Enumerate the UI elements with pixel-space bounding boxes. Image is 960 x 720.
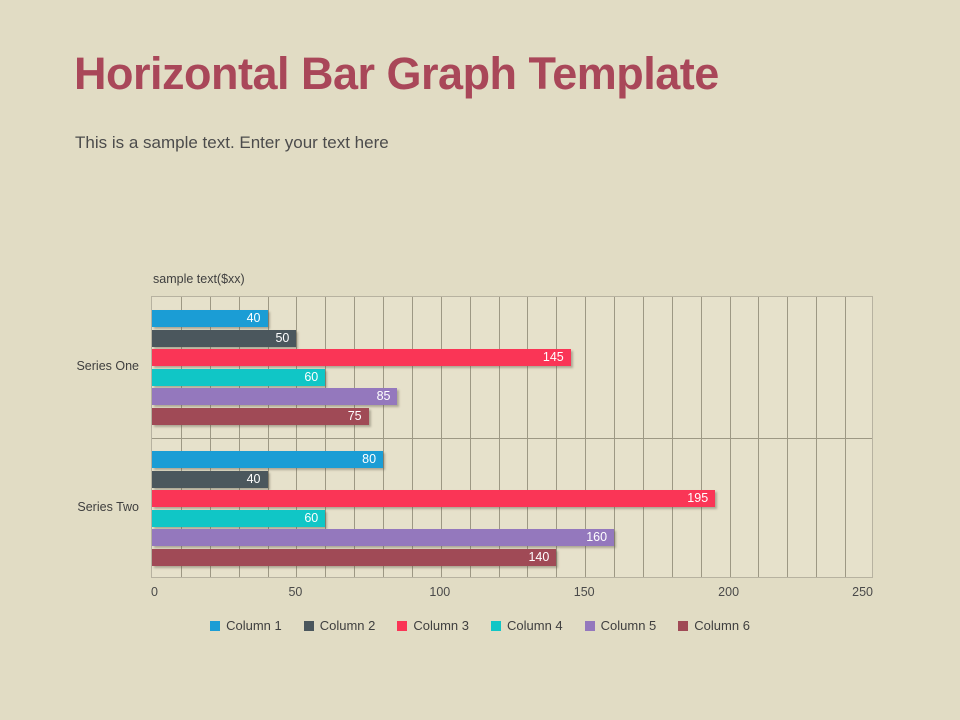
bar-value-label: 140 [152,549,556,566]
bar-value-label: 60 [152,510,325,527]
x-tick-label: 150 [574,585,595,599]
legend-swatch-icon [210,621,220,631]
bar-value-label: 40 [152,310,268,327]
chart-legend: Column 1Column 2Column 3Column 4Column 5… [0,618,960,633]
legend-label: Column 6 [694,618,750,633]
axis-title: sample text($xx) [153,272,245,286]
legend-swatch-icon [491,621,501,631]
category-divider [152,438,872,439]
legend-item[interactable]: Column 5 [585,618,657,633]
x-tick-label: 250 [852,585,873,599]
x-tick-label: 100 [429,585,450,599]
category-label: Series Two [39,500,139,514]
x-tick-label: 200 [718,585,739,599]
x-tick-label: 0 [151,585,158,599]
gridline [643,297,644,577]
bar-value-label: 160 [152,529,614,546]
gridline [614,297,615,577]
legend-item[interactable]: Column 1 [210,618,282,633]
gridline [730,297,731,577]
bar-value-label: 195 [152,490,715,507]
legend-label: Column 2 [320,618,376,633]
bar-value-label: 145 [152,349,571,366]
legend-swatch-icon [397,621,407,631]
legend-item[interactable]: Column 3 [397,618,469,633]
gridline [845,297,846,577]
gridline [816,297,817,577]
x-tick-label: 50 [288,585,302,599]
bar-value-label: 40 [152,471,268,488]
bar-value-label: 75 [152,408,369,425]
legend-item[interactable]: Column 2 [304,618,376,633]
legend-swatch-icon [304,621,314,631]
gridline [787,297,788,577]
category-label: Series One [39,359,139,373]
bar-value-label: 60 [152,369,325,386]
legend-label: Column 4 [507,618,563,633]
bar-value-label: 50 [152,330,296,347]
legend-item[interactable]: Column 4 [491,618,563,633]
plot-inner: 4050145608575804019560160140 [152,297,872,577]
gridline [672,297,673,577]
gridline [701,297,702,577]
legend-swatch-icon [678,621,688,631]
bar-value-label: 85 [152,388,397,405]
bar-value-label: 80 [152,451,383,468]
horizontal-bar-chart: sample text($xx) 40501456085758040195601… [0,0,960,720]
legend-label: Column 5 [601,618,657,633]
gridline [758,297,759,577]
legend-swatch-icon [585,621,595,631]
legend-item[interactable]: Column 6 [678,618,750,633]
legend-label: Column 1 [226,618,282,633]
plot-area: 4050145608575804019560160140 [151,296,873,578]
legend-label: Column 3 [413,618,469,633]
